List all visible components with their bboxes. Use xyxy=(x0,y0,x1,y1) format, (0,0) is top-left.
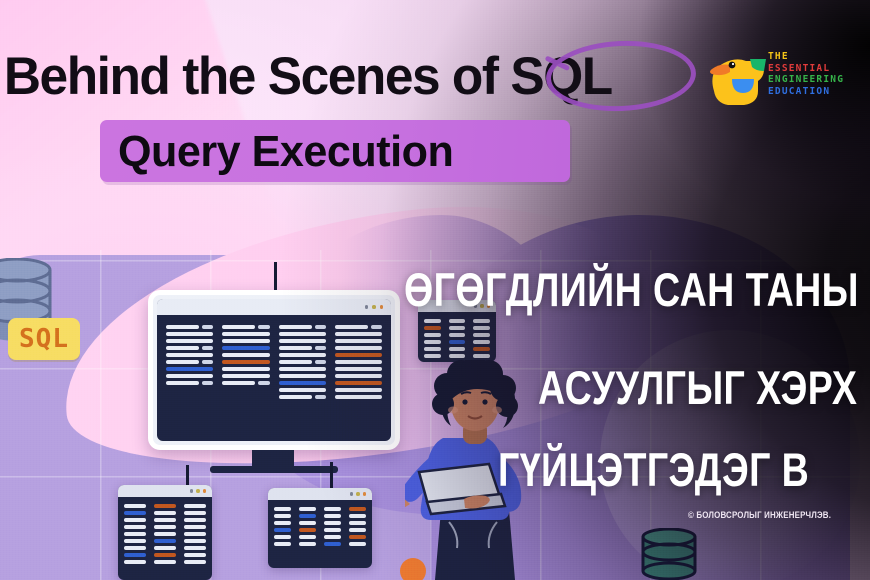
overlay-caption-line-1: ӨГӨГДЛИЙН САН ТАНЫ S xyxy=(404,262,870,317)
poster-canvas: SQL xyxy=(0,0,870,580)
page-subtitle: Query Execution xyxy=(118,127,569,177)
copyright-notice: © БОЛОВСРОЛЫГ ИНЖЕНЕРЧЛЭВ. xyxy=(688,510,831,520)
brand-logo[interactable]: THE ESSENTIAL ENGINEERING EDUCATION xyxy=(706,45,856,115)
overlay-caption-line-2: АСУУЛГЫГ ХЭРХ xyxy=(538,360,857,415)
logo-line-1: THE xyxy=(768,51,858,63)
duck-icon xyxy=(706,51,768,109)
logo-line-4: EDUCATION xyxy=(768,86,858,98)
logo-wordmark: THE ESSENTIAL ENGINEERING EDUCATION xyxy=(768,51,858,97)
logo-line-3: ENGINEERING xyxy=(768,74,858,86)
overlay-caption-line-3: ГҮЙЦЭТГЭДЭГ В xyxy=(498,442,809,497)
overlay-caption-block: ӨГӨГДЛИЙН САН ТАНЫ S АСУУЛГЫГ ХЭРХ ГҮЙЦЭ… xyxy=(390,250,870,500)
logo-line-2: ESSENTIAL xyxy=(768,63,858,75)
